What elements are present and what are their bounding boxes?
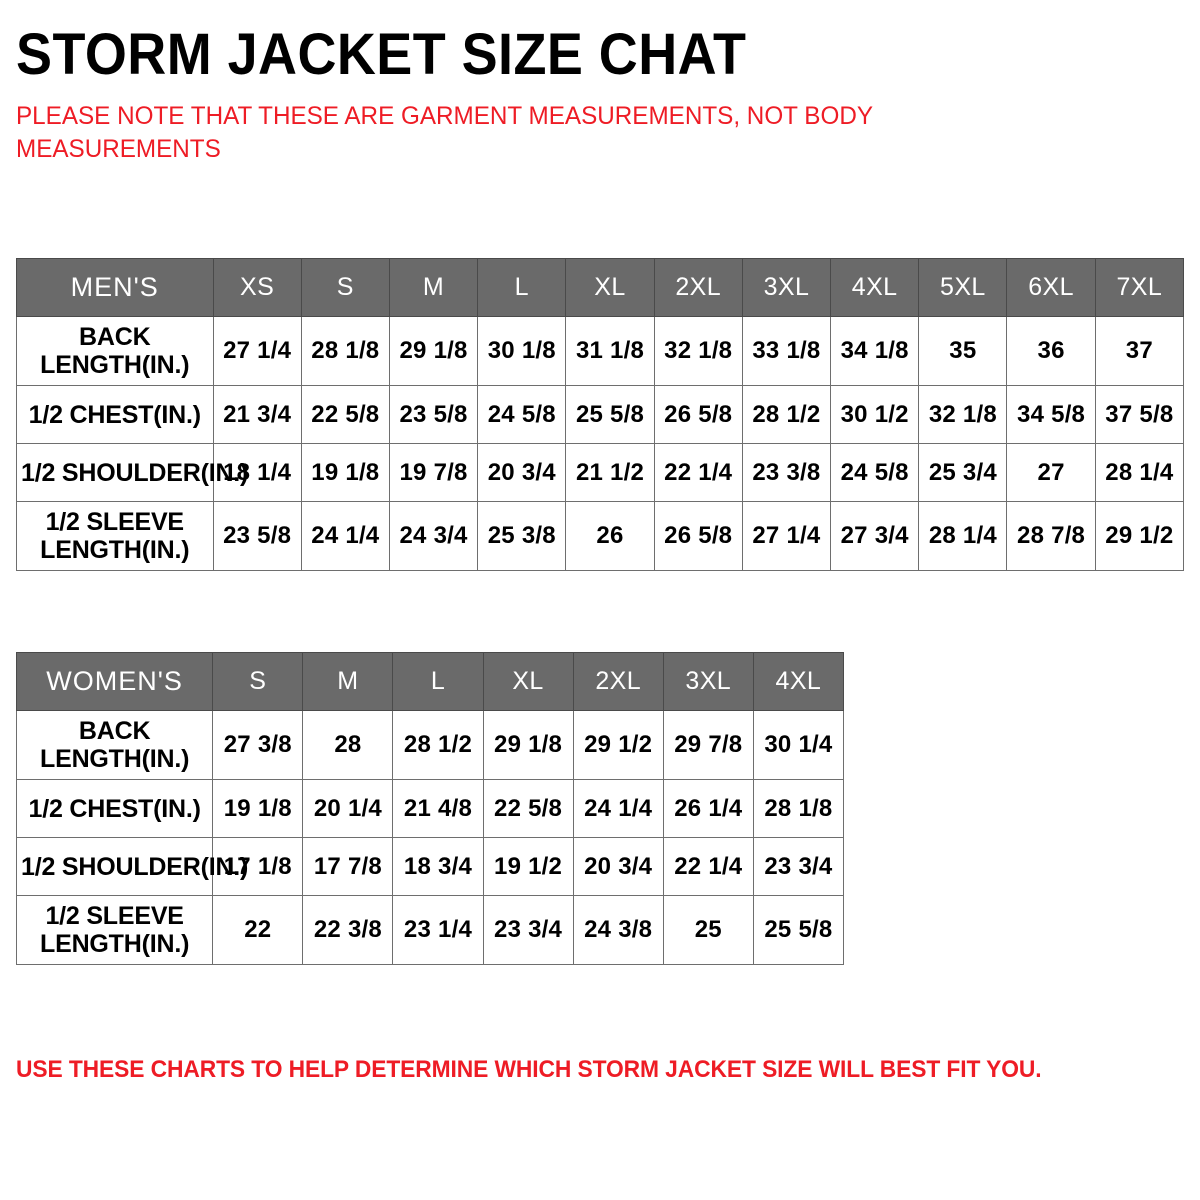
column-header-3xl: 3XL [663, 653, 753, 711]
womens-header-row: WOMEN'SSMLXL2XL3XL4XL [17, 653, 844, 711]
column-header-xl: XL [566, 259, 654, 317]
measurement-cell: 345/8 [1007, 386, 1095, 444]
measurement-cell: 281/4 [919, 502, 1007, 571]
womens-corner-label: WOMEN'S [17, 653, 213, 711]
row-header-label: 1/2 CHEST(IN.) [17, 386, 214, 444]
measurement-cell: 197/8 [389, 444, 477, 502]
table-row: 1/2 CHEST(IN.)213/4225/8235/8245/8255/82… [17, 386, 1184, 444]
measurement-cell: 265/8 [654, 386, 742, 444]
measurement-cell: 203/4 [573, 838, 663, 896]
column-header-3xl: 3XL [742, 259, 830, 317]
measurement-cell: 253/4 [919, 444, 1007, 502]
measurement-cell: 311/8 [566, 317, 654, 386]
measurement-cell: 297/8 [663, 711, 753, 780]
measurement-cell: 243/8 [573, 896, 663, 965]
column-header-s: S [213, 653, 303, 711]
page-title: STORM JACKET SIZE CHAT [16, 0, 1102, 84]
measurement-cell: 221/4 [654, 444, 742, 502]
measurement-cell: 177/8 [303, 838, 393, 896]
measurement-cell: 265/8 [654, 502, 742, 571]
column-header-m: M [303, 653, 393, 711]
measurement-cell: 261/4 [663, 780, 753, 838]
row-header-line: LENGTH(IN.) [40, 745, 189, 773]
table-row: 1/2 SHOULDER(IN.)171/8177/8183/4191/2203… [17, 838, 844, 896]
row-header-line: LENGTH(IN.) [40, 351, 189, 379]
row-header-label: BACKLENGTH(IN.) [17, 711, 213, 780]
measurement-cell: 35 [919, 317, 1007, 386]
column-header-xs: XS [213, 259, 301, 317]
measurement-cell: 235/8 [389, 386, 477, 444]
column-header-l: L [478, 259, 566, 317]
row-header-line: 1/2 SHOULDER(IN.) [21, 459, 248, 487]
measurement-cell: 231/4 [393, 896, 483, 965]
measurement-cell: 255/8 [753, 896, 843, 965]
measurement-cell: 301/8 [478, 317, 566, 386]
column-header-m: M [389, 259, 477, 317]
row-header-label: BACKLENGTH(IN.) [17, 317, 214, 386]
measurement-cell: 287/8 [1007, 502, 1095, 571]
row-header-line: 1/2 CHEST(IN.) [29, 795, 201, 823]
row-header-label: 1/2 SHOULDER(IN.) [17, 838, 213, 896]
row-header-line: LENGTH(IN.) [40, 930, 189, 958]
column-header-7xl: 7XL [1095, 259, 1183, 317]
row-header-line: 1/2 SHOULDER(IN.) [21, 853, 248, 881]
measurement-cell: 321/8 [919, 386, 1007, 444]
measurement-cell: 241/4 [301, 502, 389, 571]
size-chart-page: STORM JACKET SIZE CHAT PLEASE NOTE THAT … [0, 0, 1200, 1200]
row-header-line: 1/2 SLEEVE [45, 902, 183, 930]
table-row: 1/2 SLEEVELENGTH(IN.)235/8241/4243/4253/… [17, 502, 1184, 571]
column-header-2xl: 2XL [573, 653, 663, 711]
measurement-cell: 245/8 [478, 386, 566, 444]
use-charts-note: USE THESE CHARTS TO HELP DETERMINE WHICH… [16, 1056, 1042, 1084]
measurement-cell: 191/2 [483, 838, 573, 896]
row-header-line: LENGTH(IN.) [40, 536, 189, 564]
measurement-cell: 211/2 [566, 444, 654, 502]
measurement-cell: 341/8 [831, 317, 919, 386]
row-header-line: BACK [79, 717, 150, 745]
measurement-cell: 291/8 [389, 317, 477, 386]
measurement-cell: 241/4 [573, 780, 663, 838]
row-header-label: 1/2 SHOULDER(IN.) [17, 444, 214, 502]
column-header-l: L [393, 653, 483, 711]
measurement-cell: 235/8 [213, 502, 301, 571]
measurement-cell: 214/8 [393, 780, 483, 838]
row-header-label: 1/2 SLEEVELENGTH(IN.) [17, 502, 214, 571]
column-header-5xl: 5XL [919, 259, 1007, 317]
measurement-cell: 203/4 [478, 444, 566, 502]
measurement-cell: 321/8 [654, 317, 742, 386]
measurement-cell: 273/8 [213, 711, 303, 780]
measurement-cell: 183/4 [393, 838, 483, 896]
column-header-6xl: 6XL [1007, 259, 1095, 317]
measurement-cell: 281/2 [393, 711, 483, 780]
measurement-cell: 375/8 [1095, 386, 1183, 444]
measurement-cell: 301/4 [753, 711, 843, 780]
column-header-xl: XL [483, 653, 573, 711]
mens-table-header: MEN'SXSSMLXL2XL3XL4XL5XL6XL7XL [17, 259, 1184, 317]
table-row: 1/2 CHEST(IN.)191/8201/4214/8225/8241/42… [17, 780, 844, 838]
table-row: BACKLENGTH(IN.)271/4281/8291/8301/8311/8… [17, 317, 1184, 386]
row-header-line: BACK [79, 323, 150, 351]
table-row: 1/2 SLEEVELENGTH(IN.)22223/8231/4233/424… [17, 896, 844, 965]
measurement-cell: 191/8 [301, 444, 389, 502]
measurement-cell: 223/8 [303, 896, 393, 965]
mens-table-body: BACKLENGTH(IN.)271/4281/8291/8301/8311/8… [17, 317, 1184, 571]
measurement-cell: 37 [1095, 317, 1183, 386]
measurement-cell: 255/8 [566, 386, 654, 444]
measurement-cell: 171/8 [213, 838, 303, 896]
measurement-cell: 225/8 [301, 386, 389, 444]
measurement-cell: 26 [566, 502, 654, 571]
measurement-cell: 291/8 [483, 711, 573, 780]
measurement-cell: 281/8 [753, 780, 843, 838]
measurement-cell: 245/8 [831, 444, 919, 502]
measurement-cell: 281/2 [742, 386, 830, 444]
measurement-cell: 233/4 [753, 838, 843, 896]
measurement-cell: 243/4 [389, 502, 477, 571]
measurement-cell: 233/4 [483, 896, 573, 965]
measurement-cell: 253/8 [478, 502, 566, 571]
measurement-cell: 22 [213, 896, 303, 965]
measurement-cell: 331/8 [742, 317, 830, 386]
table-row: BACKLENGTH(IN.)273/828281/2291/8291/2297… [17, 711, 844, 780]
measurement-cell: 28 [303, 711, 393, 780]
measurement-cell: 273/4 [831, 502, 919, 571]
row-header-label: 1/2 SLEEVELENGTH(IN.) [17, 896, 213, 965]
measurement-cell: 213/4 [213, 386, 301, 444]
womens-table-body: BACKLENGTH(IN.)273/828281/2291/8291/2297… [17, 711, 844, 965]
measurement-cell: 25 [663, 896, 753, 965]
row-header-line: 1/2 CHEST(IN.) [29, 401, 201, 429]
mens-corner-label: MEN'S [17, 259, 214, 317]
measurement-cell: 27 [1007, 444, 1095, 502]
measurement-cell: 291/2 [573, 711, 663, 780]
column-header-2xl: 2XL [654, 259, 742, 317]
measurement-cell: 201/4 [303, 780, 393, 838]
measurement-cell: 291/2 [1095, 502, 1183, 571]
measurement-cell: 271/4 [742, 502, 830, 571]
measurement-cell: 301/2 [831, 386, 919, 444]
measurement-cell: 221/4 [663, 838, 753, 896]
row-header-label: 1/2 CHEST(IN.) [17, 780, 213, 838]
column-header-4xl: 4XL [753, 653, 843, 711]
measurement-cell: 181/4 [213, 444, 301, 502]
mens-header-row: MEN'SXSSMLXL2XL3XL4XL5XL6XL7XL [17, 259, 1184, 317]
garment-measurement-note: PLEASE NOTE THAT THESE ARE GARMENT MEASU… [16, 100, 947, 166]
column-header-s: S [301, 259, 389, 317]
measurement-cell: 36 [1007, 317, 1095, 386]
table-row: 1/2 SHOULDER(IN.)181/4191/8197/8203/4211… [17, 444, 1184, 502]
womens-size-table: WOMEN'SSMLXL2XL3XL4XL BACKLENGTH(IN.)273… [16, 652, 844, 965]
measurement-cell: 271/4 [213, 317, 301, 386]
measurement-cell: 281/8 [301, 317, 389, 386]
measurement-cell: 225/8 [483, 780, 573, 838]
measurement-cell: 233/8 [742, 444, 830, 502]
measurement-cell: 281/4 [1095, 444, 1183, 502]
row-header-line: 1/2 SLEEVE [46, 508, 184, 536]
column-header-4xl: 4XL [831, 259, 919, 317]
measurement-cell: 191/8 [213, 780, 303, 838]
womens-table-header: WOMEN'SSMLXL2XL3XL4XL [17, 653, 844, 711]
mens-size-table: MEN'SXSSMLXL2XL3XL4XL5XL6XL7XL BACKLENGT… [16, 258, 1184, 571]
